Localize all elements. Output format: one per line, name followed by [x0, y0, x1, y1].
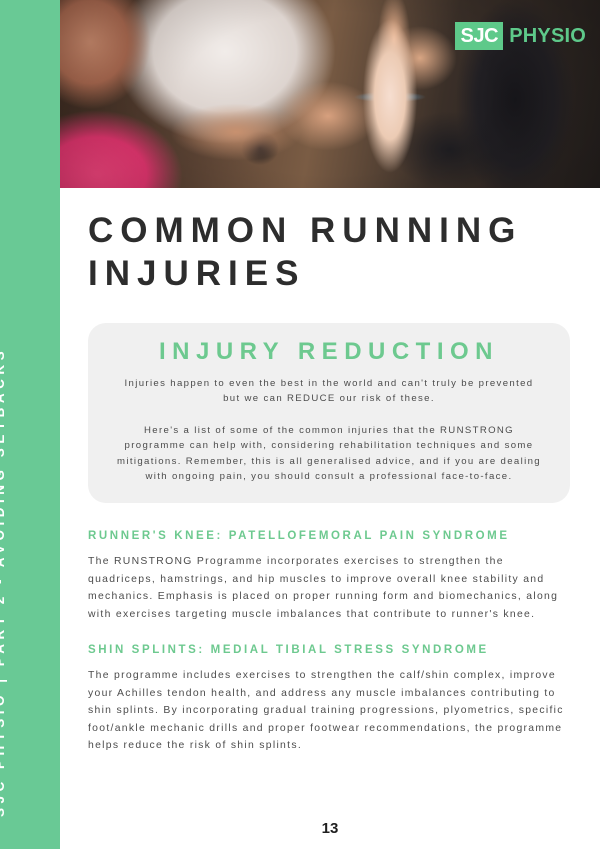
sidebar: SJC PHYSIO | PART 2 - AVOIDING SETBACKS: [0, 0, 60, 849]
main-content: COMMON RUNNING INJURIES INJURY REDUCTION…: [60, 188, 600, 755]
sidebar-label: SJC PHYSIO | PART 2 - AVOIDING SETBACKS: [0, 347, 30, 819]
section-body-runners-knee: The RUNSTRONG Programme incorporates exe…: [88, 553, 570, 623]
callout-title: INJURY REDUCTION: [114, 339, 544, 365]
logo-wordmark: PHYSIO: [503, 22, 586, 50]
section-heading-runners-knee: RUNNER'S KNEE: PATELLOFEMORAL PAIN SYNDR…: [88, 529, 570, 544]
section-runners-knee: RUNNER'S KNEE: PATELLOFEMORAL PAIN SYNDR…: [88, 529, 570, 623]
page-title: COMMON RUNNING INJURIES: [60, 188, 600, 295]
section-heading-shin-splints: SHIN SPLINTS: MEDIAL TIBIAL STRESS SYNDR…: [88, 643, 570, 658]
callout-paragraph-2: Here's a list of some of the common inju…: [114, 423, 544, 485]
section-body-shin-splints: The programme includes exercises to stre…: [88, 667, 570, 754]
callout-paragraph-1: Injuries happen to even the best in the …: [114, 376, 544, 407]
section-shin-splints: SHIN SPLINTS: MEDIAL TIBIAL STRESS SYNDR…: [88, 643, 570, 755]
sidebar-rotated-wrapper: SJC PHYSIO | PART 2 - AVOIDING SETBACKS: [0, 0, 60, 849]
logo-mark: SJC: [455, 22, 504, 50]
page-number: 13: [60, 820, 600, 837]
hero-image: SJC PHYSIO: [60, 0, 600, 188]
sidebar-rotated-inner: SJC PHYSIO | PART 2 - AVOIDING SETBACKS: [0, 19, 30, 819]
page: SJC PHYSIO | PART 2 - AVOIDING SETBACKS …: [0, 0, 600, 849]
brand-logo: SJC PHYSIO: [455, 22, 587, 50]
injury-reduction-callout: INJURY REDUCTION Injuries happen to even…: [88, 323, 570, 503]
